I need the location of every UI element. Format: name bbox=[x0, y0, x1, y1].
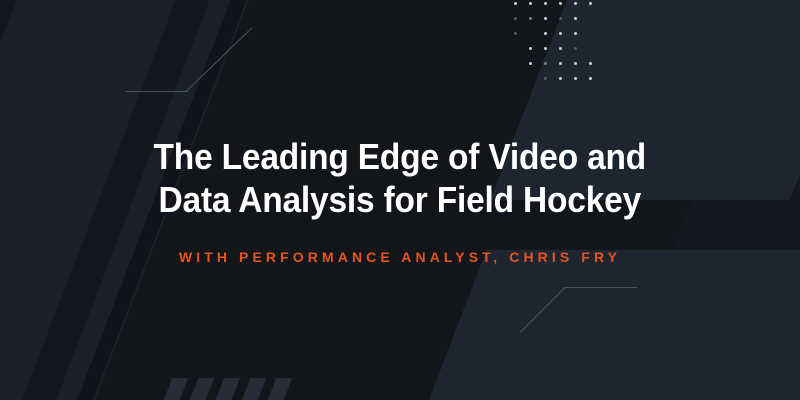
banner-title: The Leading Edge of Video and Data Analy… bbox=[154, 135, 647, 221]
banner-content: The Leading Edge of Video and Data Analy… bbox=[0, 0, 800, 400]
title-line-1: The Leading Edge of Video and bbox=[154, 135, 647, 178]
promo-banner: The Leading Edge of Video and Data Analy… bbox=[0, 0, 800, 400]
banner-subtitle: With Performance Analyst, Chris Fry bbox=[179, 249, 621, 265]
title-line-2: Data Analysis for Field Hockey bbox=[154, 178, 647, 221]
